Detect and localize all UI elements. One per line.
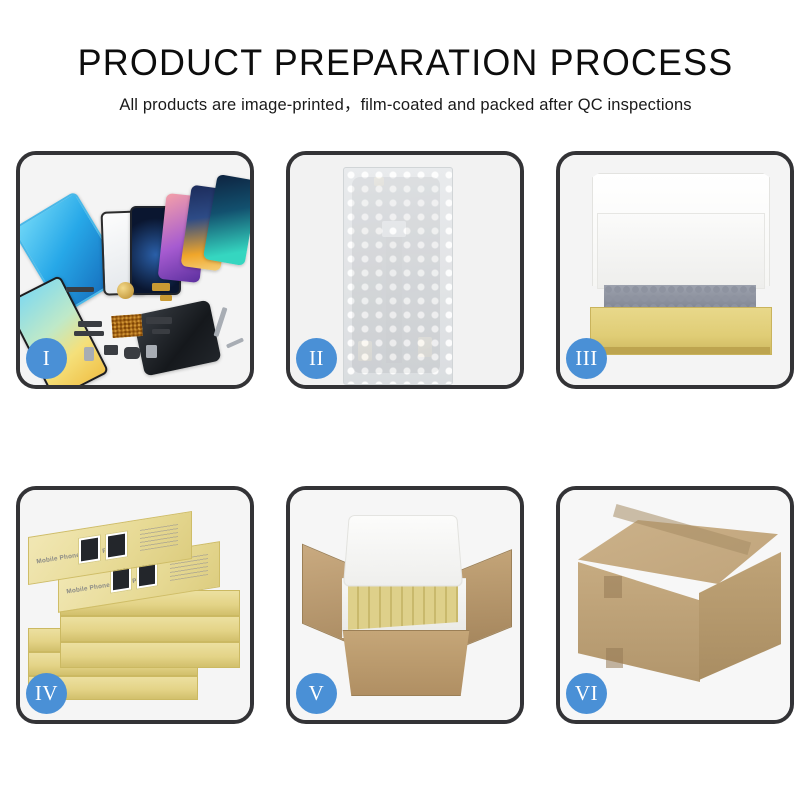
- product-preparation-infographic: PRODUCT PREPARATION PROCESS All products…: [0, 0, 811, 811]
- step-badge-2: II: [296, 338, 337, 379]
- part-gold-flex: [152, 283, 170, 291]
- bubble-wrap-bag: [343, 167, 453, 385]
- process-step-card-4: Mobile Phone Spare Parts Mobile Phone Sp…: [16, 486, 254, 724]
- step-badge-6: VI: [566, 673, 607, 714]
- process-step-card-3: III Item placed in foam-lined yellow inn…: [556, 151, 794, 389]
- page-subtitle: All products are image-printed，film-coat…: [0, 96, 811, 116]
- foam-sheet: [597, 213, 765, 289]
- stacked-box-upper-3: [60, 642, 240, 668]
- part-screwdriver: [226, 338, 244, 349]
- part-sim-tray: [104, 345, 118, 355]
- part-speaker: [66, 287, 94, 292]
- part-gold-clip: [160, 295, 172, 301]
- chip-grid: [111, 314, 142, 338]
- step-badge-3: III: [566, 338, 607, 379]
- part-cable-b: [74, 331, 104, 336]
- process-step-card-2: II Screen assembly sealed in bubble wrap: [286, 151, 524, 389]
- carton-left-face: [578, 562, 700, 682]
- part-cable-c: [146, 317, 172, 324]
- step-badge-5: V: [296, 673, 337, 714]
- process-step-card-6: VI Sealed shipping carton ready for disp…: [556, 486, 794, 724]
- part-cable-d: [152, 329, 170, 334]
- part-cable-a: [78, 321, 102, 327]
- phone-back-housing: [132, 300, 221, 377]
- carton-tape-tab-top: [604, 576, 622, 598]
- step-badge-4: IV: [26, 673, 67, 714]
- part-camera-module: [124, 347, 140, 359]
- gold-component: [117, 282, 134, 299]
- process-step-grid: I Mobile phone screens and spare parts a…: [16, 151, 796, 724]
- carton-tape-tab-bottom: [606, 648, 623, 668]
- page-title: PRODUCT PREPARATION PROCESS: [12, 44, 799, 83]
- yellow-box-edge: [590, 347, 770, 354]
- header: PRODUCT PREPARATION PROCESS All products…: [0, 0, 811, 116]
- step-badge-1: I: [26, 338, 67, 379]
- part-tweezers: [213, 307, 227, 337]
- stacked-box-upper-2: [60, 616, 240, 642]
- box-thumb-1b: [105, 530, 128, 561]
- foam-box-lid: [343, 515, 463, 586]
- part-button-set: [84, 347, 94, 361]
- process-step-card-5: V Boxes loaded into foam insert inside c…: [286, 486, 524, 724]
- carton-front-panel: [334, 630, 478, 696]
- part-battery-connector: [146, 345, 157, 358]
- process-step-card-1: I Mobile phone screens and spare parts a…: [16, 151, 254, 389]
- box-thumb-1a: [78, 534, 101, 565]
